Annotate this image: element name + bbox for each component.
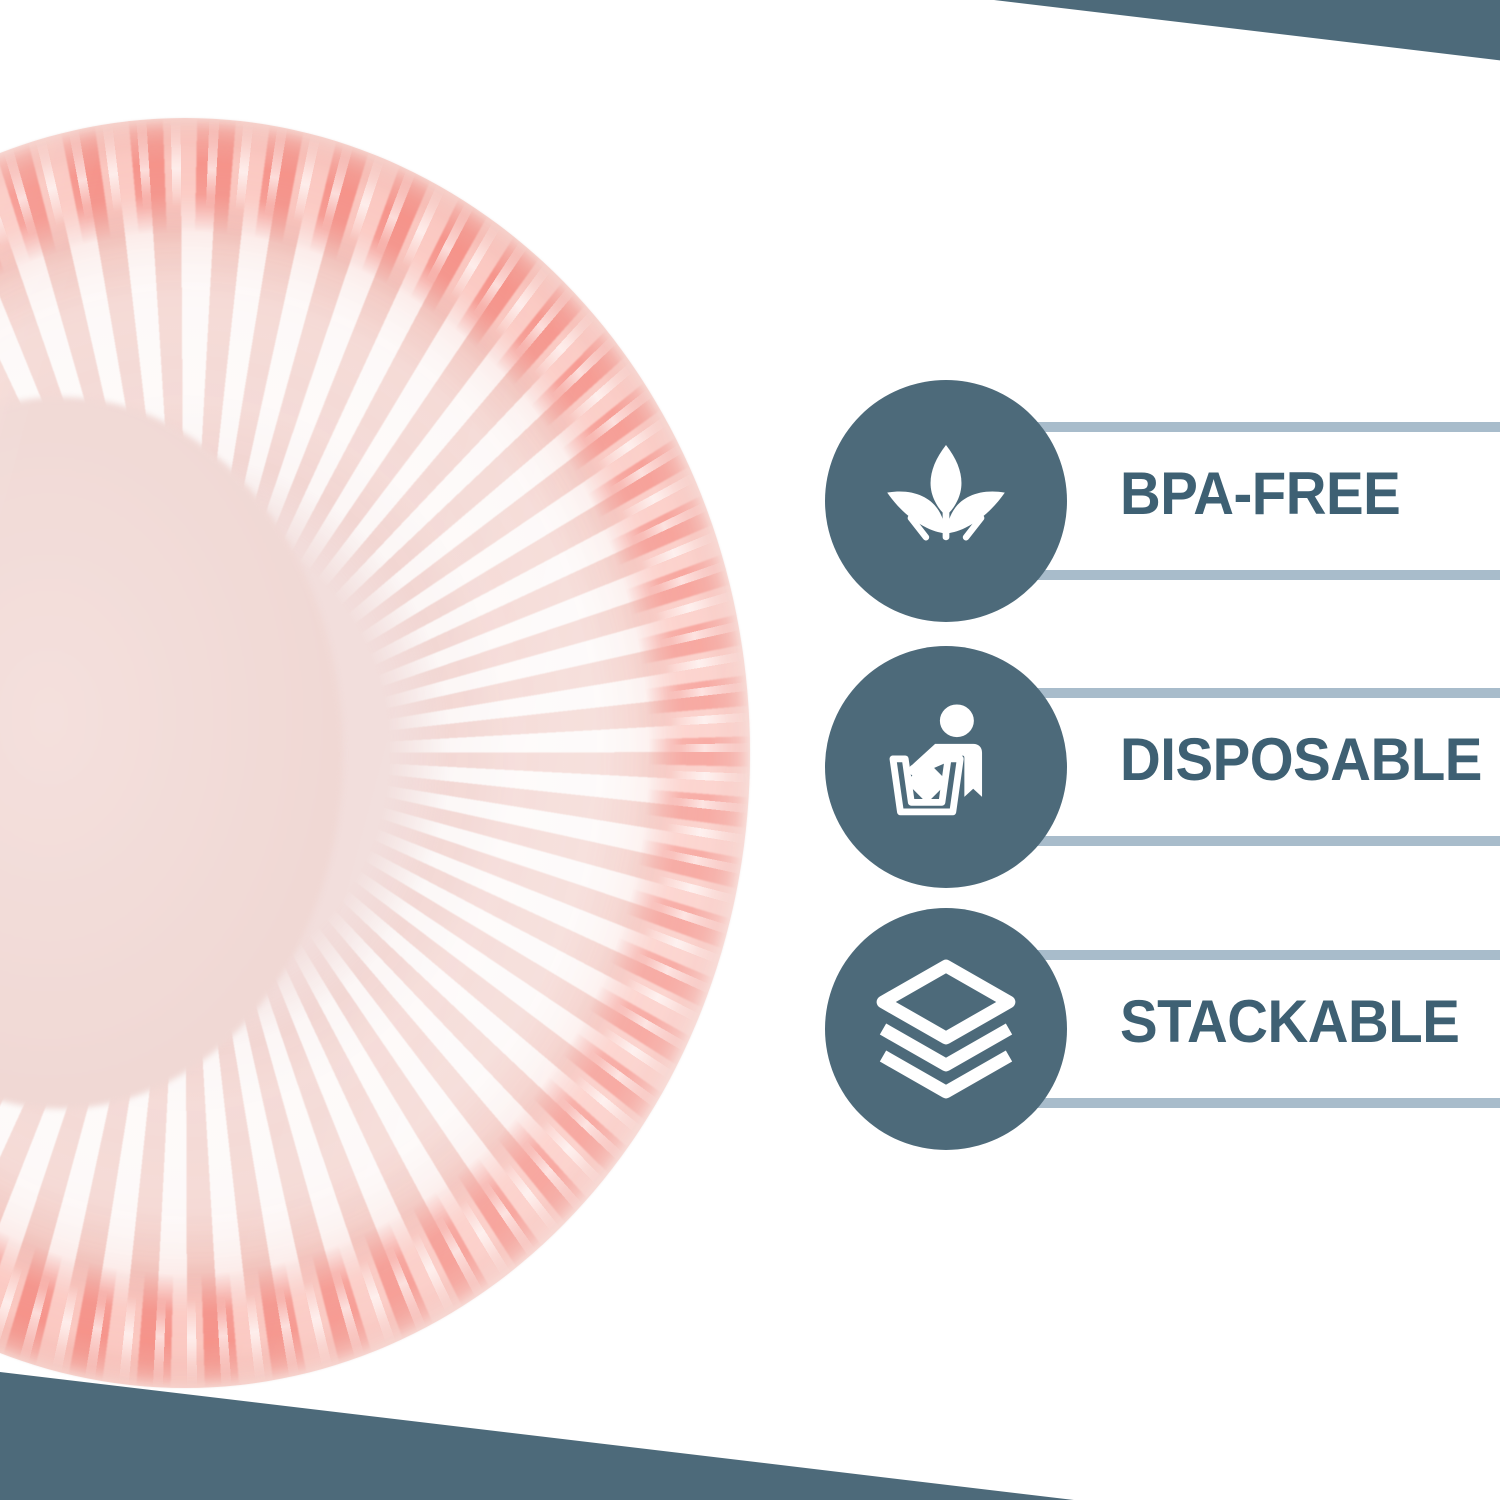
feature-label-disposable: DISPOSABLE	[1120, 730, 1482, 790]
feature-rule-bottom	[1025, 836, 1500, 846]
layers-stack-icon	[871, 954, 1021, 1104]
feature-rule-bottom	[1025, 1098, 1500, 1108]
feature-list: BPA-FREE DISPOSABLE	[820, 360, 1500, 1170]
feature-label-stackable: STACKABLE	[1120, 992, 1459, 1052]
feature-rule-top	[1025, 950, 1500, 960]
feature-badge-bpa-free	[825, 380, 1067, 622]
feature-item-disposable: DISPOSABLE	[820, 626, 1500, 876]
feature-item-stackable: STACKABLE	[820, 888, 1500, 1138]
feature-label-bpa-free: BPA-FREE	[1120, 464, 1400, 524]
feature-badge-stackable	[825, 908, 1067, 1150]
feature-item-bpa-free: BPA-FREE	[820, 360, 1500, 610]
infographic-canvas: BPA-FREE DISPOSABLE	[0, 0, 1500, 1500]
leaf-plant-icon	[876, 431, 1016, 571]
feature-rule-bottom	[1025, 570, 1500, 580]
tidy-man-trash-icon	[878, 699, 1014, 835]
feature-badge-disposable	[825, 646, 1067, 888]
feature-rule-top	[1025, 688, 1500, 698]
feature-rule-top	[1025, 422, 1500, 432]
